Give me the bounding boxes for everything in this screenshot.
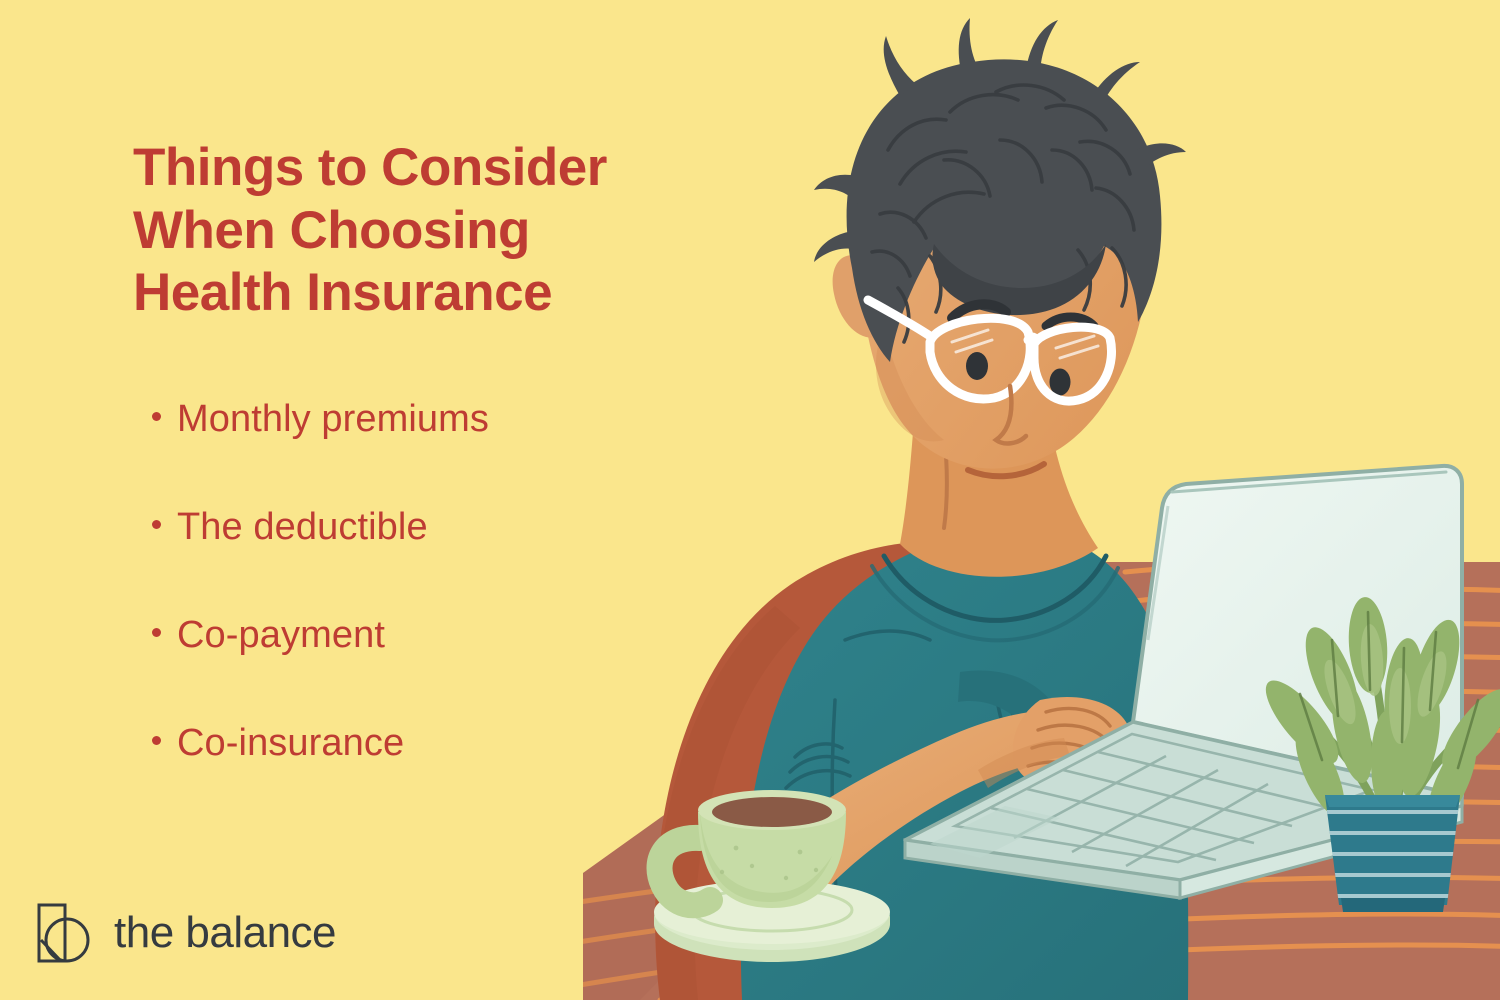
list-item-label: Co-insurance	[177, 722, 404, 765]
list-item-label: Co-payment	[177, 614, 385, 657]
page-title: Things to Consider When Choosing Health …	[133, 137, 693, 325]
coffee-cup	[654, 790, 890, 962]
bullet-dot-icon	[152, 520, 161, 529]
list-item-label: Monthly premiums	[177, 398, 489, 441]
person-body	[741, 528, 1188, 1000]
infographic-canvas: Things to Consider When Choosing Health …	[0, 0, 1500, 1000]
list-item-label: The deductible	[177, 506, 428, 549]
list-item: Monthly premiums	[152, 398, 672, 506]
brand-logo[interactable]: the balance	[36, 902, 336, 964]
plant-pot	[1325, 795, 1460, 905]
bullet-dot-icon	[152, 412, 161, 421]
bullet-dot-icon	[152, 736, 161, 745]
person-head	[814, 18, 1186, 577]
desk	[560, 560, 1500, 1000]
person-arms	[772, 697, 1132, 890]
laptop	[905, 466, 1462, 898]
hair	[814, 18, 1186, 362]
plant-leaves	[1255, 596, 1500, 848]
eye-right	[1050, 369, 1071, 396]
logo-wordmark: the balance	[114, 911, 336, 955]
balance-logo-icon	[36, 902, 92, 964]
list-item: Co-insurance	[152, 722, 672, 830]
glasses-icon	[868, 300, 1112, 401]
potted-plant	[1255, 596, 1500, 912]
list-item: Co-payment	[152, 614, 672, 722]
chair	[655, 541, 1010, 1000]
list-item: The deductible	[152, 506, 672, 614]
considerations-list: Monthly premiums The deductible Co-payme…	[152, 398, 672, 830]
eye-left	[966, 352, 988, 380]
bullet-dot-icon	[152, 628, 161, 637]
